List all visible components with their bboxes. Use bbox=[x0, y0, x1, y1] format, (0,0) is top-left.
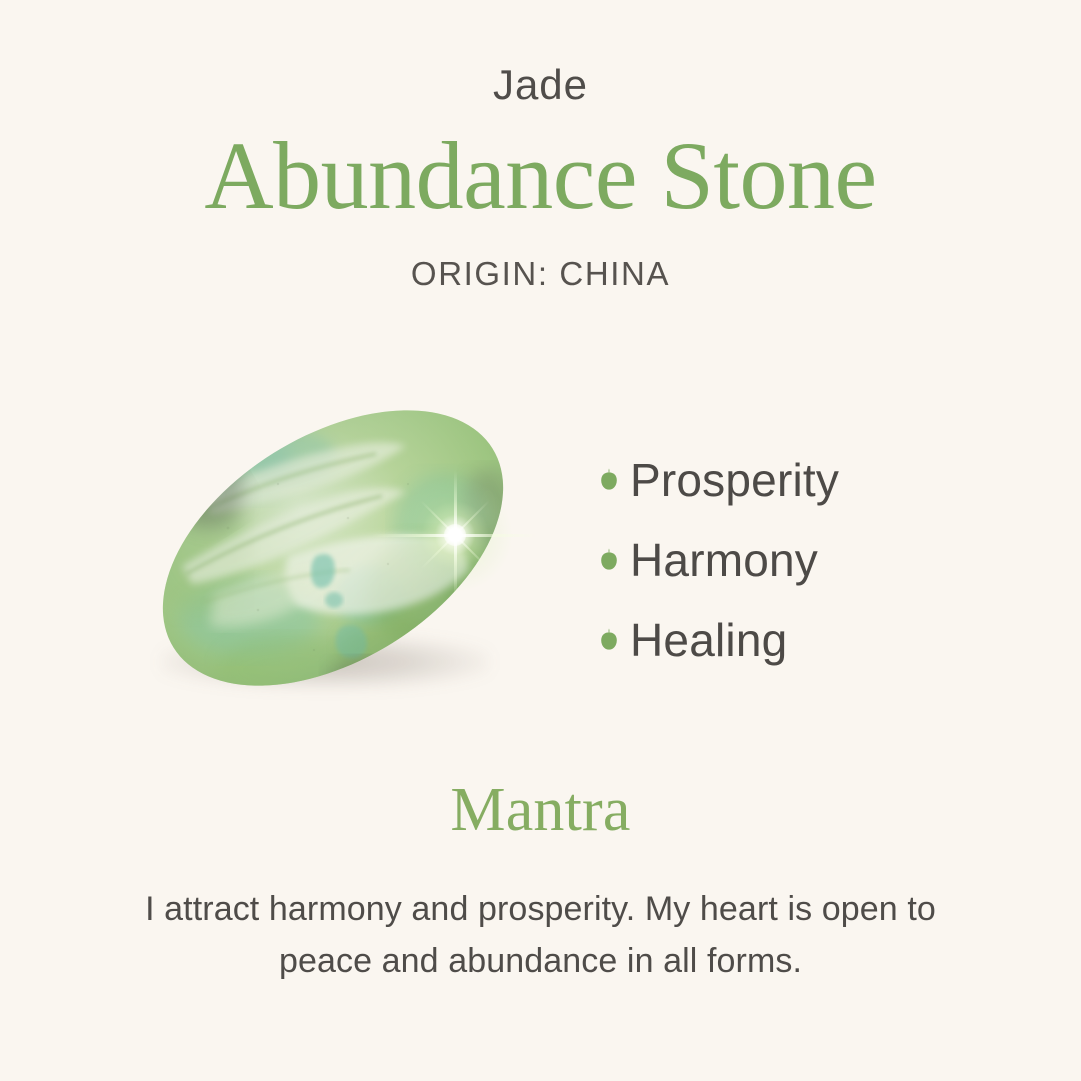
leaf-bullet-icon bbox=[600, 468, 630, 492]
list-item: Harmony bbox=[600, 520, 1000, 600]
property-label: Prosperity bbox=[630, 457, 839, 503]
leaf-bullet-icon bbox=[600, 548, 630, 572]
page-title: Abundance Stone bbox=[0, 126, 1081, 227]
edge-dark-bottom bbox=[328, 658, 420, 702]
property-label: Harmony bbox=[630, 537, 818, 583]
jade-stone-illustration bbox=[138, 388, 528, 708]
edge-shading bbox=[138, 388, 528, 708]
stone-illustration-area bbox=[120, 370, 590, 740]
mantra-heading: Mantra bbox=[0, 778, 1081, 843]
leaf-bullet-icon bbox=[600, 628, 630, 652]
stone-properties-list: Prosperity Harmony Healing bbox=[600, 440, 1000, 680]
gemstone-info-card: Jade Abundance Stone ORIGIN: CHINA bbox=[0, 0, 1081, 1081]
mantra-text: I attract harmony and prosperity. My hea… bbox=[140, 884, 941, 987]
property-label: Healing bbox=[630, 617, 787, 663]
jade-stone-svg bbox=[138, 388, 528, 708]
origin-label: ORIGIN: CHINA bbox=[0, 255, 1081, 293]
stone-name-eyebrow: Jade bbox=[0, 0, 1081, 106]
list-item: Prosperity bbox=[600, 440, 1000, 520]
card-header: Jade Abundance Stone ORIGIN: CHINA bbox=[0, 0, 1081, 293]
list-item: Healing bbox=[600, 600, 1000, 680]
